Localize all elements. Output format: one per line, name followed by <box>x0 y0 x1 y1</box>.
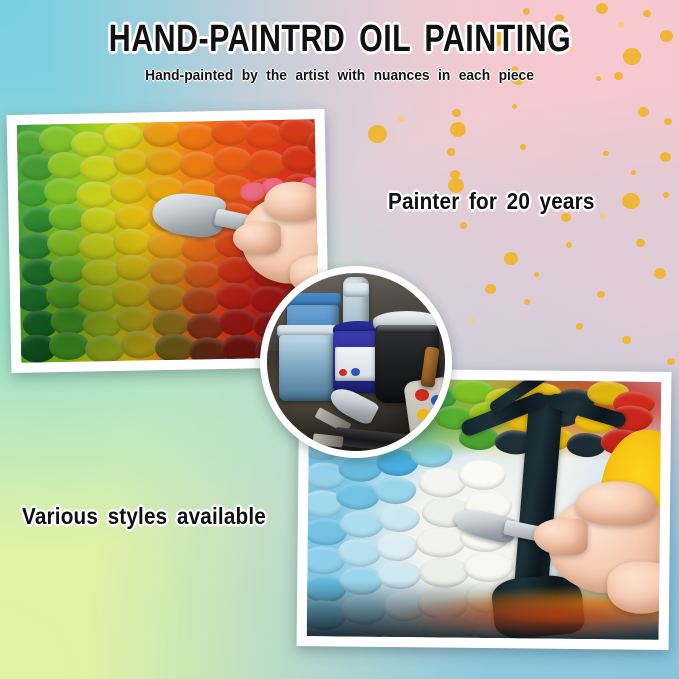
banner-heading-group: HAND-PAINTRD OIL PAINTING Hand-painted b… <box>0 20 679 84</box>
bottle-label <box>343 283 369 297</box>
label-mark-blue <box>351 368 360 376</box>
label-mark-red <box>339 369 347 376</box>
water-jar <box>279 335 335 401</box>
caption-painter-years: Painter for 20 years <box>388 188 595 215</box>
circle-photo-content <box>267 273 445 451</box>
caption-various-styles: Various styles available <box>22 503 266 530</box>
photo-circle-studio-supplies <box>260 266 452 458</box>
page-subtitle: Hand-painted by the artist with nuances … <box>27 67 652 84</box>
promo-banner: HAND-PAINTRD OIL PAINTING Hand-painted b… <box>0 0 679 679</box>
page-title: HAND-PAINTRD OIL PAINTING <box>108 20 570 58</box>
bucket-rim-highlight <box>377 325 437 333</box>
